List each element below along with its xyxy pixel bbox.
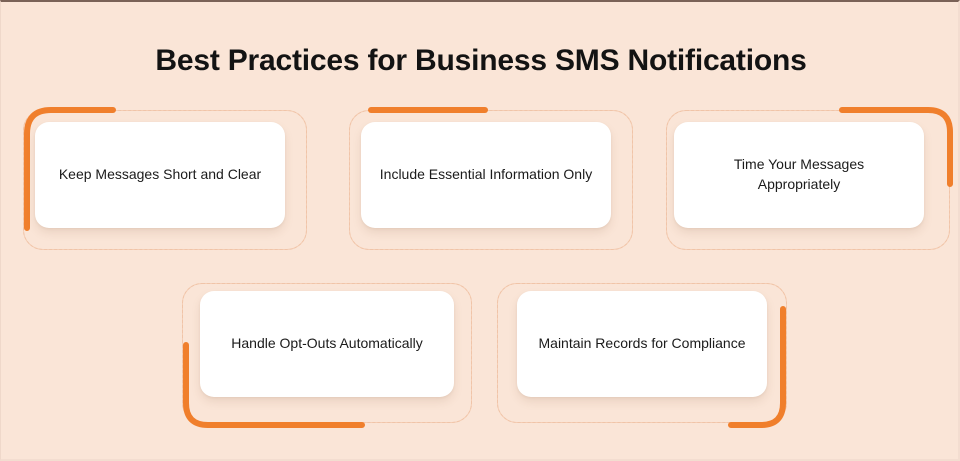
card-panel: Maintain Records for Compliance [517, 291, 767, 397]
card-label: Maintain Records for Compliance [539, 334, 746, 354]
card-label: Handle Opt-Outs Automatically [231, 334, 422, 354]
card-panel: Keep Messages Short and Clear [35, 122, 285, 228]
card-panel: Handle Opt-Outs Automatically [200, 291, 454, 397]
card-label: Time Your Messages Appropriately [692, 155, 906, 195]
practice-card-4[interactable]: Handle Opt-Outs Automatically [182, 283, 472, 423]
practice-card-3[interactable]: Time Your Messages Appropriately [666, 110, 950, 250]
practice-card-1[interactable]: Keep Messages Short and Clear [23, 110, 307, 250]
card-panel: Time Your Messages Appropriately [674, 122, 924, 228]
practice-card-5[interactable]: Maintain Records for Compliance [497, 283, 787, 423]
card-panel: Include Essential Information Only [361, 122, 611, 228]
card-label: Include Essential Information Only [380, 165, 592, 185]
practice-card-2[interactable]: Include Essential Information Only [349, 110, 633, 250]
page-title: Best Practices for Business SMS Notifica… [1, 44, 960, 78]
infographic-canvas: Best Practices for Business SMS Notifica… [0, 0, 960, 461]
card-label: Keep Messages Short and Clear [59, 165, 261, 185]
